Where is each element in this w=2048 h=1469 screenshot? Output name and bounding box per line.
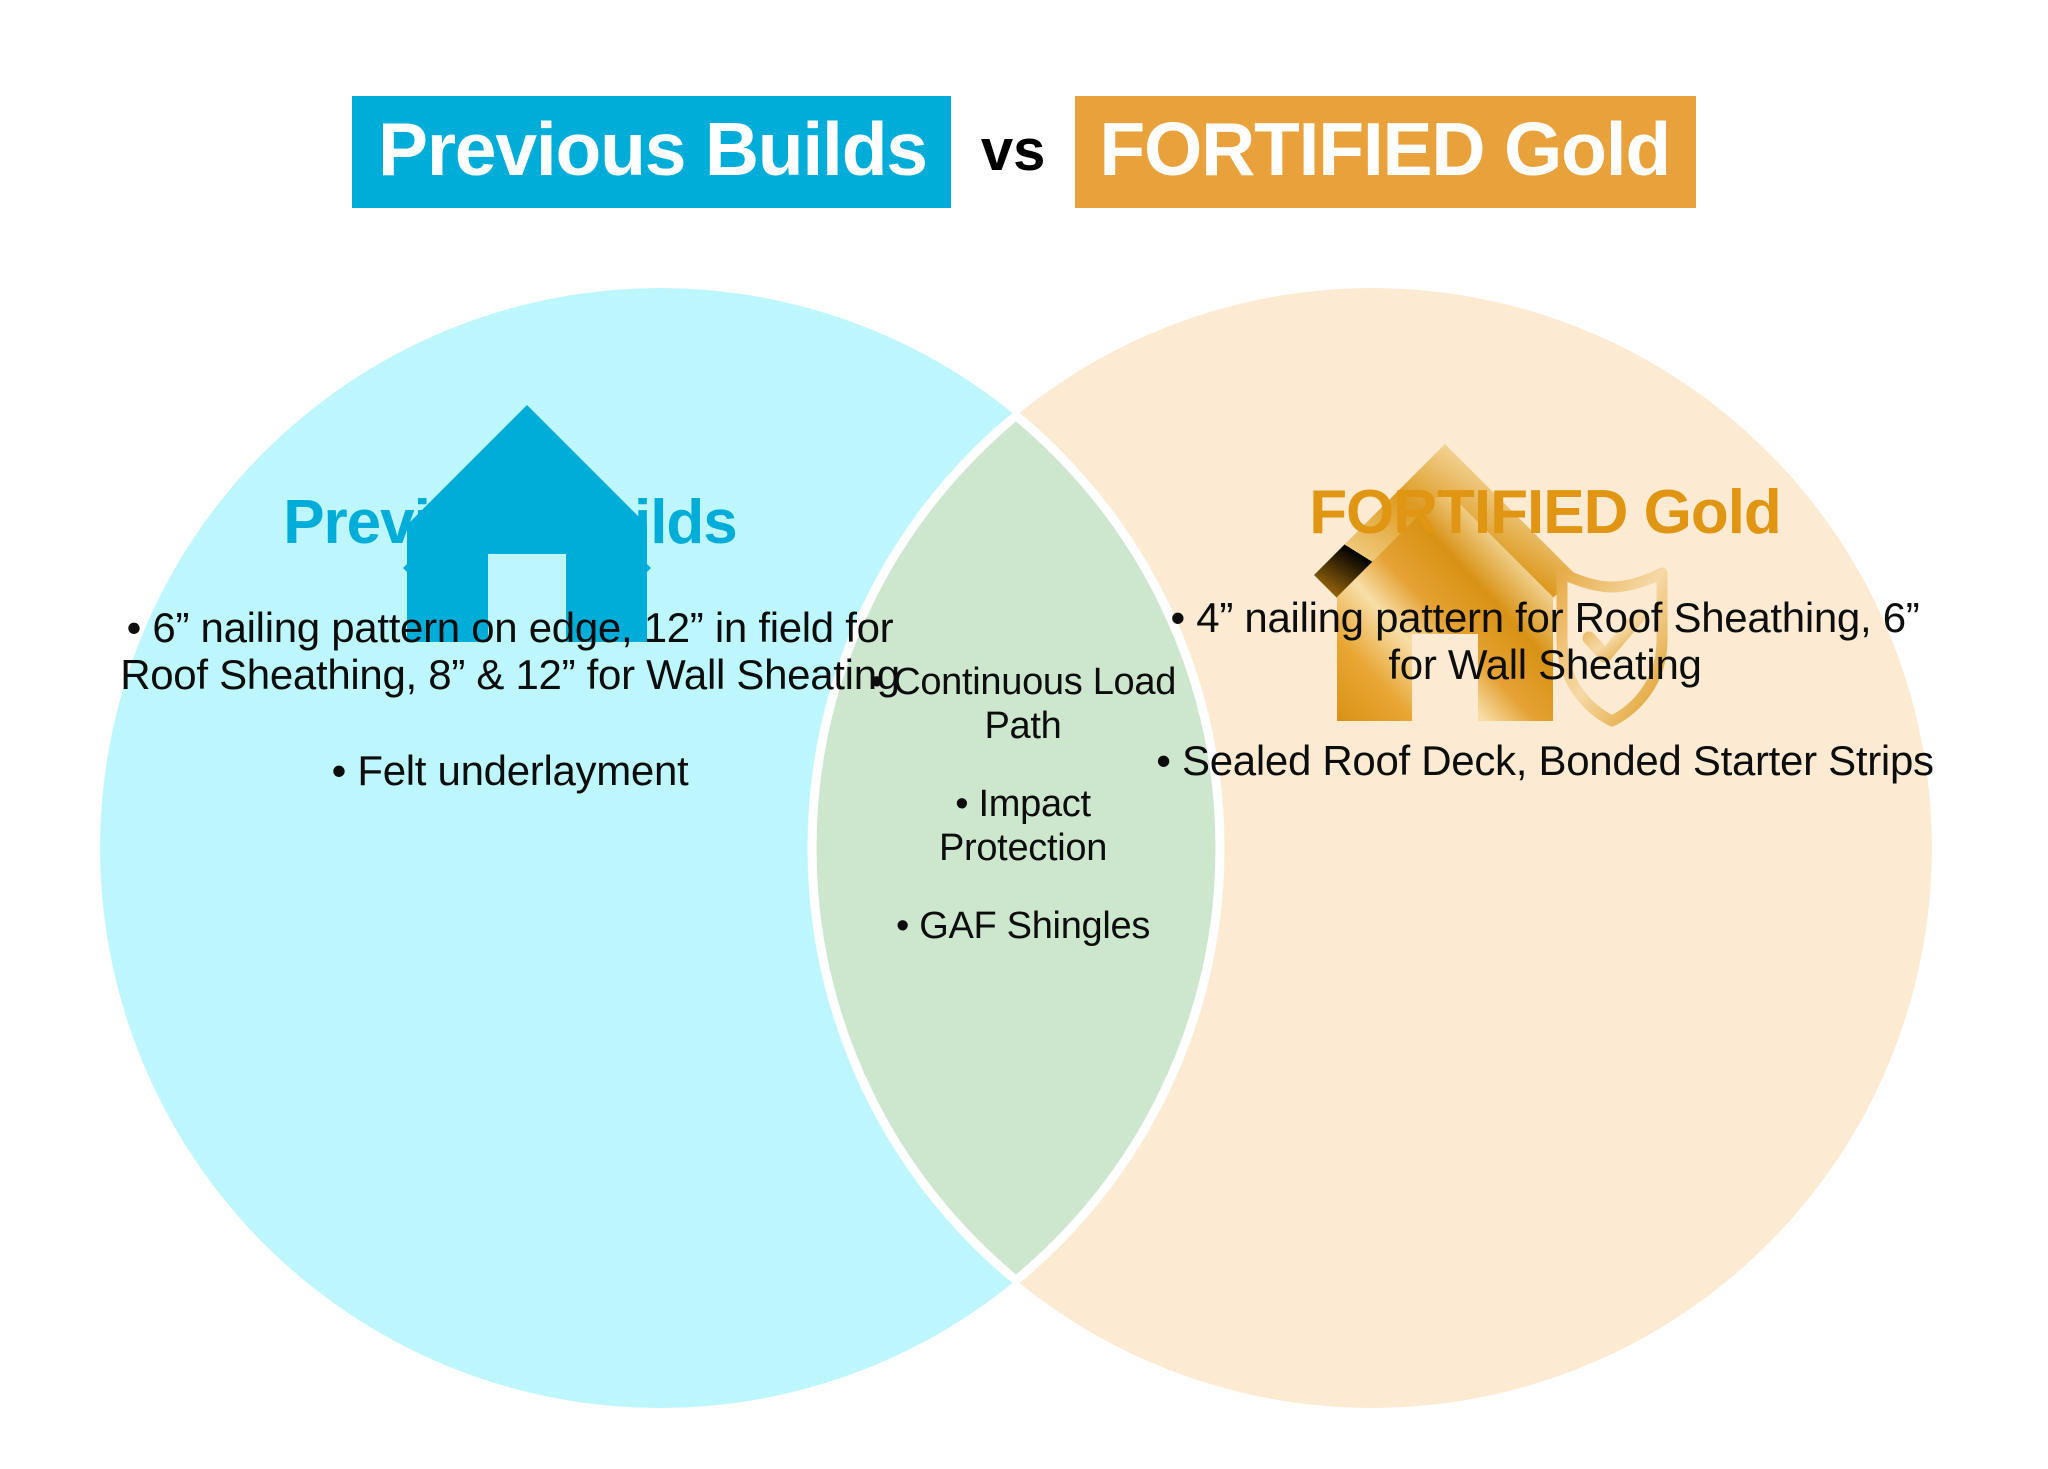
intersection-bullets: • Continuous Load Path • Impact Protecti…	[868, 660, 1178, 948]
left-circle-panel: Previous Builds • 6” nailing pattern on …	[120, 440, 900, 794]
list-item: • Felt underlayment	[120, 747, 900, 794]
right-circle-panel: FORTIFIED Gold • 4” nailing pattern for …	[1150, 430, 1940, 784]
intersection-panel: • Continuous Load Path • Impact Protecti…	[868, 660, 1178, 948]
list-item: • GAF Shingles	[868, 904, 1178, 948]
list-item: • 6” nailing pattern on edge, 12” in fie…	[120, 604, 900, 699]
left-circle-bullets: • 6” nailing pattern on edge, 12” in fie…	[120, 604, 900, 794]
list-item: • Continuous Load Path	[868, 660, 1178, 748]
list-item: • Impact Protection	[868, 782, 1178, 870]
list-item: • 4” nailing pattern for Roof Sheathing,…	[1150, 594, 1940, 689]
list-item: • Sealed Roof Deck, Bonded Starter Strip…	[1150, 737, 1940, 784]
right-circle-bullets: • 4” nailing pattern for Roof Sheathing,…	[1150, 594, 1940, 784]
right-circle-title: FORTIFIED Gold	[1150, 482, 1940, 544]
left-circle-title: Previous Builds	[120, 492, 900, 554]
